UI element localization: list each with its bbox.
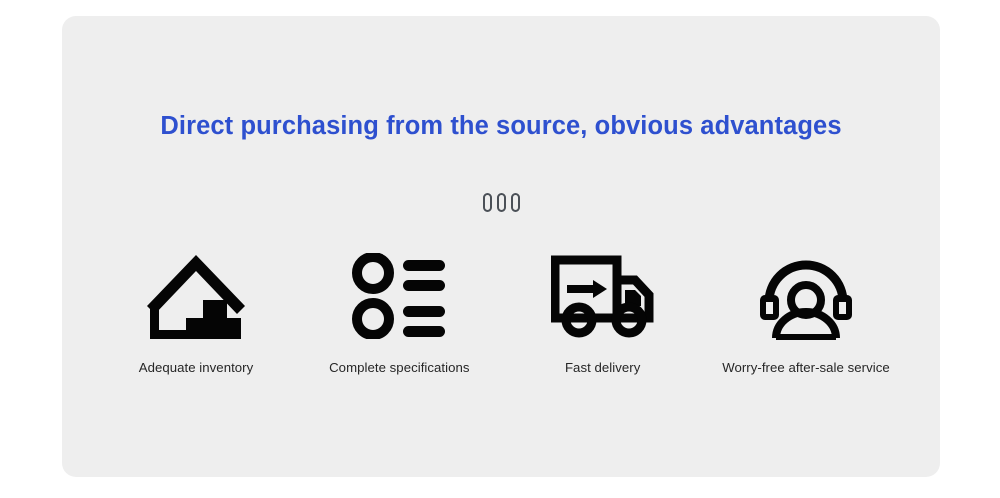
feature-item-after-sale: Worry-free after-sale service bbox=[706, 248, 906, 375]
warehouse-icon bbox=[145, 248, 247, 344]
divider-pill-1 bbox=[483, 193, 492, 212]
page-title: Direct purchasing from the source, obvio… bbox=[62, 112, 940, 141]
customer-support-headset-icon bbox=[757, 248, 855, 344]
feature-label-inventory: Adequate inventory bbox=[139, 360, 254, 375]
feature-label-delivery: Fast delivery bbox=[565, 360, 640, 375]
divider-pill-3 bbox=[511, 193, 520, 212]
delivery-truck-icon bbox=[551, 248, 655, 344]
promo-card: Direct purchasing from the source, obvio… bbox=[62, 16, 940, 477]
feature-label-specifications: Complete specifications bbox=[329, 360, 469, 375]
promo-banner-page: Direct purchasing from the source, obvio… bbox=[0, 0, 1000, 498]
divider-pill-2 bbox=[497, 193, 506, 212]
divider bbox=[62, 193, 940, 212]
feature-item-specifications: Complete specifications bbox=[299, 248, 499, 375]
specification-list-icon bbox=[351, 248, 447, 344]
feature-label-after-sale: Worry-free after-sale service bbox=[722, 360, 890, 375]
feature-list: Adequate inventory bbox=[62, 248, 940, 375]
feature-item-inventory: Adequate inventory bbox=[96, 248, 296, 375]
feature-item-delivery: Fast delivery bbox=[503, 248, 703, 375]
